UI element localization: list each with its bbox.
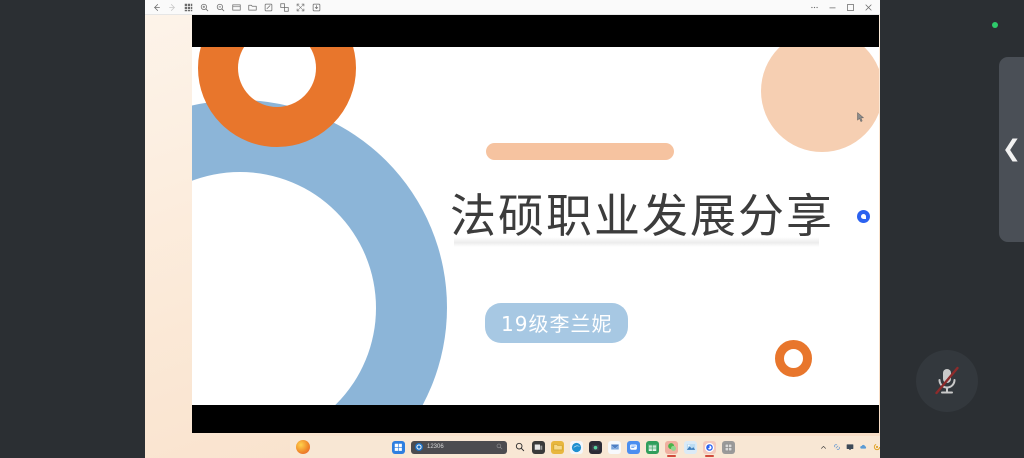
grid-view-icon[interactable] [184, 3, 193, 12]
toolbar-icon-group [152, 3, 321, 12]
download-icon[interactable] [312, 3, 321, 12]
edit-icon[interactable] [264, 3, 273, 12]
slide-title: 法硕职业发展分享 [450, 180, 834, 246]
microphone-muted-icon [932, 365, 962, 397]
maximize-icon[interactable] [846, 3, 855, 12]
search-box-magnifier-icon[interactable] [496, 443, 503, 452]
taskbar-center-section: 12306 [392, 441, 820, 454]
presentation-slide[interactable]: 法硕职业发展分享 19级李兰妮 [192, 15, 879, 433]
mouse-cursor [857, 110, 865, 121]
taskbar-mail-icon[interactable] [608, 441, 621, 454]
taskbar-camera-icon[interactable] [589, 441, 602, 454]
taskbar-chat-icon[interactable] [627, 441, 640, 454]
taskbar-file-explorer-icon[interactable] [551, 441, 564, 454]
window-controls [810, 3, 873, 12]
remote-screen: 法硕职业发展分享 19级李兰妮 12306 [0, 0, 1024, 458]
close-icon[interactable] [864, 3, 873, 12]
back-arrow-icon[interactable] [152, 3, 161, 12]
tray-monitor-icon[interactable] [846, 441, 854, 453]
fullscreen-icon[interactable] [296, 3, 305, 12]
firefox-icon[interactable] [296, 440, 310, 454]
peach-pill-bar-shape [486, 143, 674, 160]
viewer-left-gutter [0, 0, 145, 458]
forward-arrow-icon[interactable] [168, 3, 177, 12]
connection-status-dot [992, 22, 998, 28]
microphone-muted-button[interactable] [916, 350, 978, 412]
zoom-out-icon[interactable] [216, 3, 225, 12]
tray-link-icon[interactable] [833, 441, 841, 453]
windows-taskbar: 12306 [290, 436, 880, 458]
taskbar-search-icon[interactable] [513, 441, 526, 454]
fit-page-icon[interactable] [232, 3, 241, 12]
taskbar-excel-icon[interactable] [646, 441, 659, 454]
taskbar-wechat-icon[interactable] [665, 441, 678, 454]
taskbar-photos-icon[interactable] [684, 441, 697, 454]
chevron-left-icon: ❮ [1002, 138, 1021, 161]
tray-sync-icon[interactable] [873, 441, 880, 453]
remote-desktop: 法硕职业发展分享 19级李兰妮 12306 [145, 0, 880, 458]
tray-expand-icon[interactable] [820, 441, 828, 453]
taskbar-task-view-icon[interactable] [532, 441, 545, 454]
slide-author-badge: 19级李兰妮 [485, 303, 628, 343]
taskbar-search-box[interactable]: 12306 [411, 441, 507, 454]
taskbar-edge-icon[interactable] [570, 441, 583, 454]
start-button[interactable] [392, 441, 405, 454]
more-options-icon[interactable] [810, 3, 819, 12]
link-icon[interactable] [280, 3, 289, 12]
orange-ring-small-shape [775, 340, 812, 377]
search-box-value: 12306 [427, 444, 492, 450]
taskbar-tencent-meeting-icon[interactable] [703, 441, 716, 454]
side-panel-collapse-button[interactable]: ❮ [999, 57, 1024, 242]
folder-open-icon[interactable] [248, 3, 257, 12]
assistant-blue-button[interactable] [855, 208, 872, 225]
peach-circle-shape [761, 30, 879, 152]
minimize-icon[interactable] [828, 3, 837, 12]
taskbar-misc-icon[interactable] [722, 441, 735, 454]
taskbar-left-section [290, 440, 392, 454]
zoom-in-icon[interactable] [200, 3, 209, 12]
assistant-blue-icon [857, 210, 870, 223]
slide-letterbox-bottom [192, 405, 879, 433]
slide-letterbox-top [192, 15, 879, 47]
system-tray: 英 拼 16:52 2026/2/4 [820, 440, 880, 454]
tray-cloud-icon[interactable] [859, 441, 868, 453]
search-box-site-icon [415, 443, 423, 451]
window-toolbar [145, 0, 880, 15]
